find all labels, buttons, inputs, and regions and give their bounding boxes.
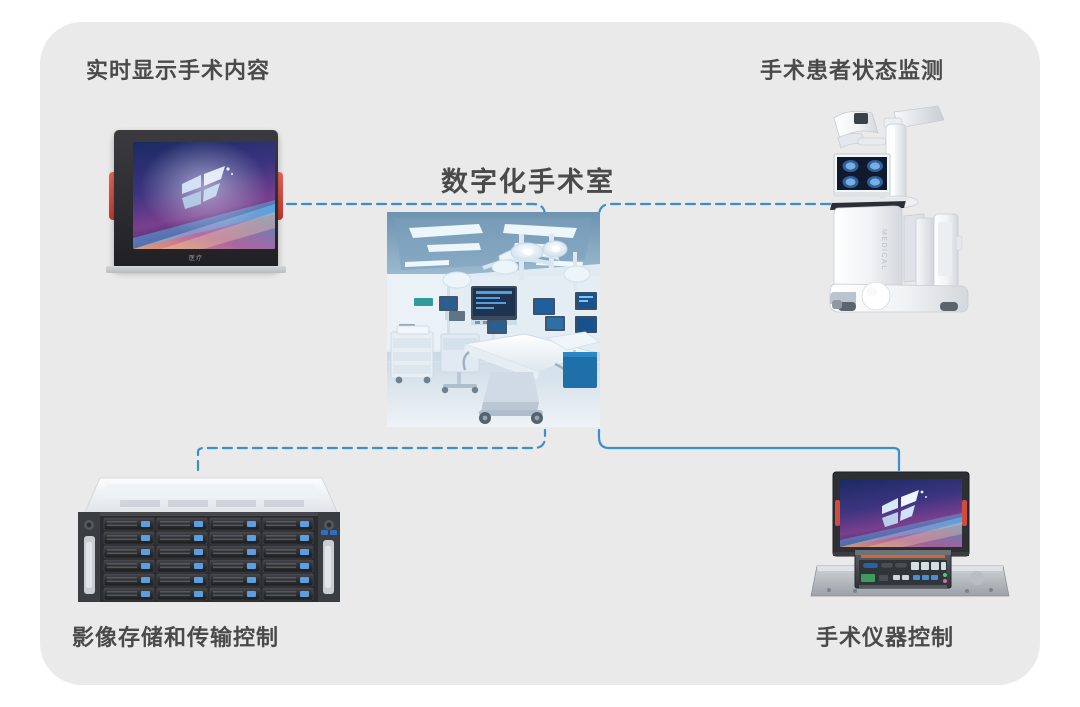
panel-pc-screen bbox=[133, 142, 275, 249]
panel-pc-brand-mark: 医疗 bbox=[189, 253, 203, 262]
operating-room-photo bbox=[387, 212, 600, 427]
caption-instrument: 手术仪器控制 bbox=[816, 620, 954, 652]
caption-display: 实时显示手术内容 bbox=[86, 53, 270, 85]
caption-monitoring: 手术患者状态监测 bbox=[760, 53, 944, 85]
svg-text:MEDICAL: MEDICAL bbox=[880, 229, 887, 271]
device-medical-panel-pc: 医疗 bbox=[106, 130, 286, 278]
device-storage-server bbox=[64, 472, 354, 604]
center-title: 数字化手术室 bbox=[441, 160, 615, 199]
device-instrument-control-pc bbox=[795, 470, 1025, 605]
panel-pc-bezel: 医疗 bbox=[114, 130, 278, 270]
panel-pc-stand bbox=[106, 266, 286, 273]
diagram-stage: 实时显示手术内容 手术患者状态监测 影像存储和传输控制 手术仪器控制 数字化手术… bbox=[0, 0, 1080, 707]
device-mobile-imaging-cart: MEDICAL bbox=[798, 104, 983, 319]
caption-storage: 影像存储和传输控制 bbox=[72, 620, 279, 652]
